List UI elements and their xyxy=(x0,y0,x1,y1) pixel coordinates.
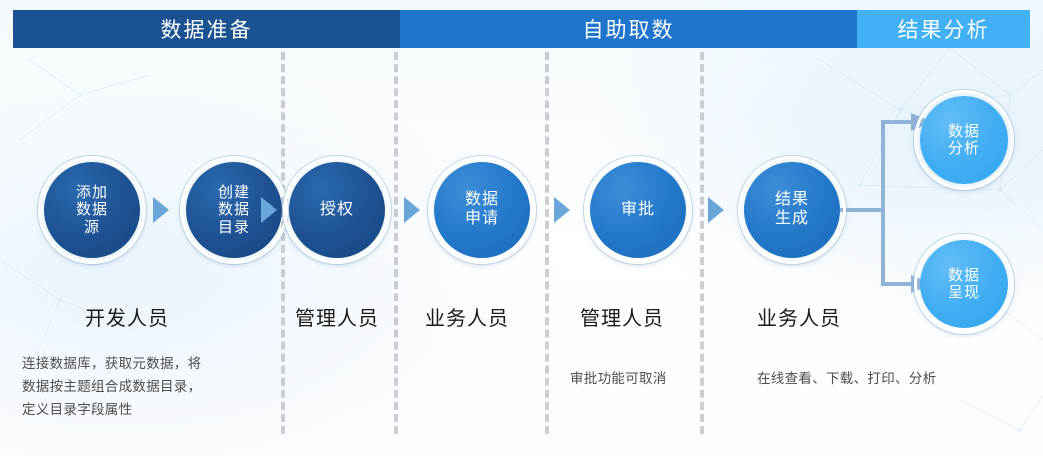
node-line: 申请 xyxy=(465,210,499,229)
node-line: 数据 xyxy=(948,123,980,140)
node-line: 添加 xyxy=(76,184,108,201)
role-label-administrator-2: 管理人员 xyxy=(580,302,664,331)
node-line: 数据 xyxy=(465,191,499,210)
role-label-administrator: 管理人员 xyxy=(295,302,379,331)
node-data-request[interactable]: 数据 申请 xyxy=(434,162,530,258)
node-line: 创建 xyxy=(218,184,250,201)
node-result-generate[interactable]: 结果 生成 xyxy=(744,162,840,258)
description-line: 在线查看、下载、打印、分析 xyxy=(757,367,936,390)
node-authorize[interactable]: 授权 xyxy=(289,162,385,258)
phase-band-label: 数据准备 xyxy=(161,14,253,44)
phase-band-label: 自助取数 xyxy=(583,14,675,44)
arrow-request-to-approval xyxy=(554,197,570,223)
phase-band-result-analysis: 结果分析 xyxy=(857,10,1030,48)
description-line: 连接数据库，获取元数据，将 xyxy=(22,352,272,375)
flow-diagram-canvas: 数据准备 自助取数 结果分析 添加 数据 源 创建 数据 目 xyxy=(0,0,1043,456)
node-add-datasource[interactable]: 添加 数据 源 xyxy=(44,162,140,258)
node-line: 审批 xyxy=(621,201,655,220)
description-line: 数据按主题组合成数据目录， xyxy=(22,375,272,398)
description-approval: 审批功能可取消 xyxy=(570,367,667,390)
role-label-developer: 开发人员 xyxy=(85,302,169,331)
node-data-analysis[interactable]: 数据 分析 xyxy=(920,96,1008,184)
node-approval[interactable]: 审批 xyxy=(590,162,686,258)
node-line: 呈现 xyxy=(948,284,980,301)
column-separator-3 xyxy=(545,52,549,434)
node-line: 分析 xyxy=(948,140,980,157)
description-data-prep: 连接数据库，获取元数据，将 数据按主题组合成数据目录， 定义目录字段属性 xyxy=(22,352,272,422)
node-line: 源 xyxy=(76,219,108,236)
node-data-presentation[interactable]: 数据 呈现 xyxy=(920,240,1008,328)
arrow-authorize-to-request xyxy=(404,197,420,223)
phase-band-data-prep: 数据准备 xyxy=(13,10,400,48)
description-line: 审批功能可取消 xyxy=(570,367,667,390)
column-separator-1 xyxy=(281,52,285,434)
node-line: 数据 xyxy=(948,267,980,284)
role-label-business-2: 业务人员 xyxy=(757,302,841,331)
phase-band-label: 结果分析 xyxy=(898,14,990,44)
node-line: 结果 xyxy=(775,191,809,210)
node-line: 授权 xyxy=(320,201,354,220)
role-label-business: 业务人员 xyxy=(425,302,509,331)
arrow-add-to-catalog xyxy=(153,197,169,223)
node-line: 生成 xyxy=(775,210,809,229)
node-line: 目录 xyxy=(218,219,250,236)
arrow-approval-to-result xyxy=(708,197,724,223)
node-line: 数据 xyxy=(218,201,250,218)
column-separator-4 xyxy=(700,52,704,434)
description-result: 在线查看、下载、打印、分析 xyxy=(757,367,936,390)
phase-band-self-service: 自助取数 xyxy=(400,10,857,48)
node-line: 数据 xyxy=(76,201,108,218)
arrow-catalog-to-authorize xyxy=(261,197,277,223)
description-line: 定义目录字段属性 xyxy=(22,398,272,421)
column-separator-2 xyxy=(394,52,398,434)
